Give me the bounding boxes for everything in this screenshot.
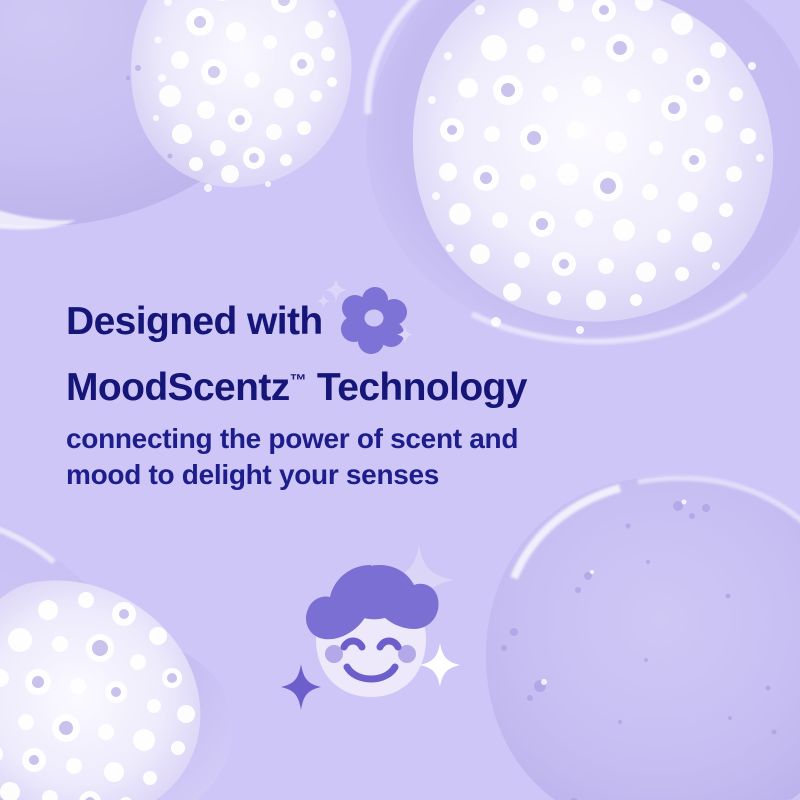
flower-icon-wrapper	[339, 286, 411, 356]
headline-line-2: MoodScentz™ Technology	[66, 368, 686, 407]
copy-block: Designed with	[66, 292, 686, 493]
trademark-symbol: ™	[290, 371, 307, 390]
marketing-graphic: Designed with	[0, 0, 800, 800]
spa-face-mascot	[278, 543, 464, 719]
sparkle-icon	[420, 643, 460, 687]
sparkle-icon	[317, 294, 330, 308]
headline-tail: Technology	[307, 366, 527, 409]
sparkle-icon	[281, 664, 321, 710]
subheadline-line-1: connecting the power of scent and	[66, 421, 686, 457]
headline-line-1: Designed with	[66, 302, 323, 341]
headline-row-1: Designed with	[66, 292, 686, 350]
flower-icon	[339, 284, 411, 356]
blob-bottom-left	[0, 486, 284, 800]
blob-bottom-right	[478, 472, 800, 800]
subheadline: connecting the power of scent and mood t…	[66, 421, 686, 493]
brand-name: MoodScentz	[66, 366, 290, 409]
sparkle-icon	[397, 326, 413, 343]
subheadline-line-2: mood to delight your senses	[66, 457, 686, 493]
